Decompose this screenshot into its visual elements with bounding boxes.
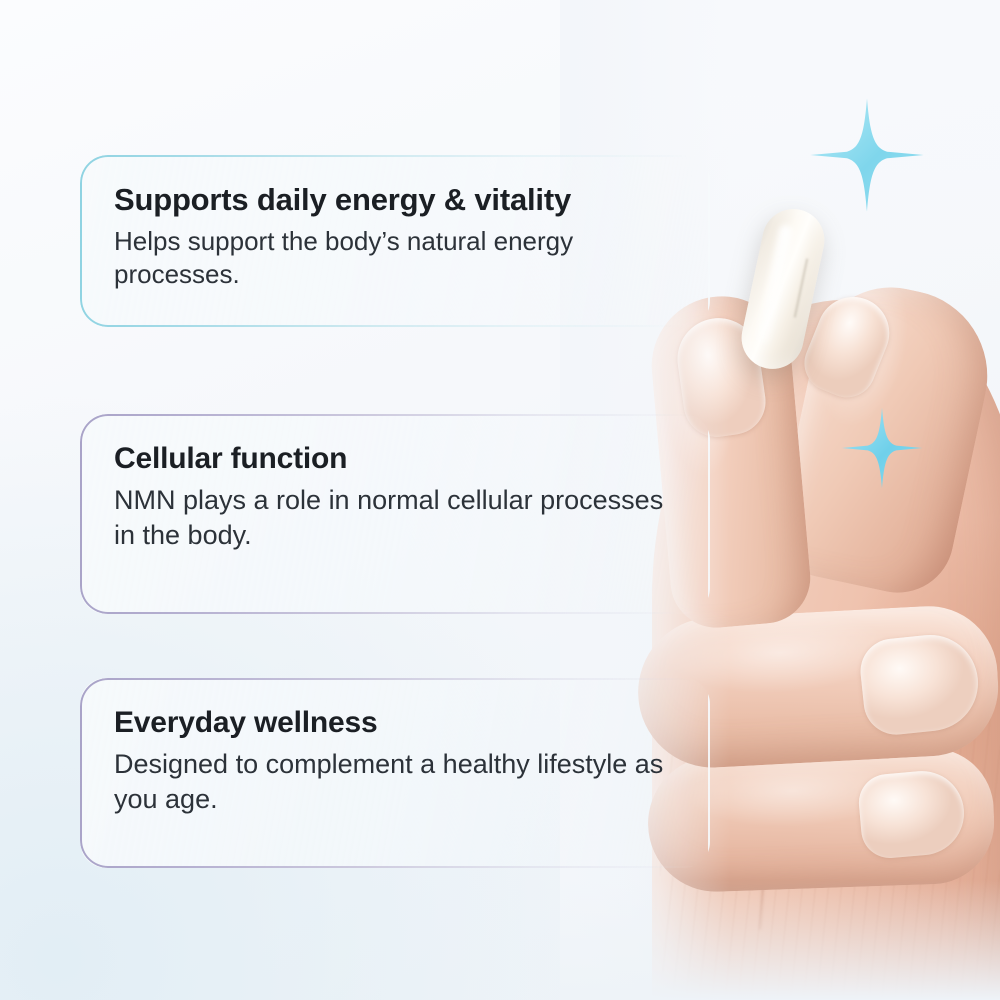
benefit-card-supports-daily-energy[interactable]: Supports daily energy & vitality Helps s… [80, 155, 710, 327]
benefit-card-body: Helps support the body’s natural energy … [114, 225, 674, 292]
promo-graphic: Supports daily energy & vitality Helps s… [0, 0, 1000, 1000]
benefit-card-body: Designed to complement a healthy lifesty… [114, 747, 674, 817]
benefit-card-body: NMN plays a role in normal cellular proc… [114, 483, 674, 553]
benefit-card-list: Supports daily energy & vitality Helps s… [0, 0, 1000, 1000]
benefit-card-everyday-wellness[interactable]: Everyday wellness Designed to complement… [80, 678, 710, 868]
benefit-card-cellular-function[interactable]: Cellular function NMN plays a role in no… [80, 414, 710, 614]
benefit-card-title: Cellular function [114, 442, 708, 476]
benefit-card-title: Everyday wellness [114, 706, 708, 740]
benefit-card-title: Supports daily energy & vitality [114, 183, 708, 218]
